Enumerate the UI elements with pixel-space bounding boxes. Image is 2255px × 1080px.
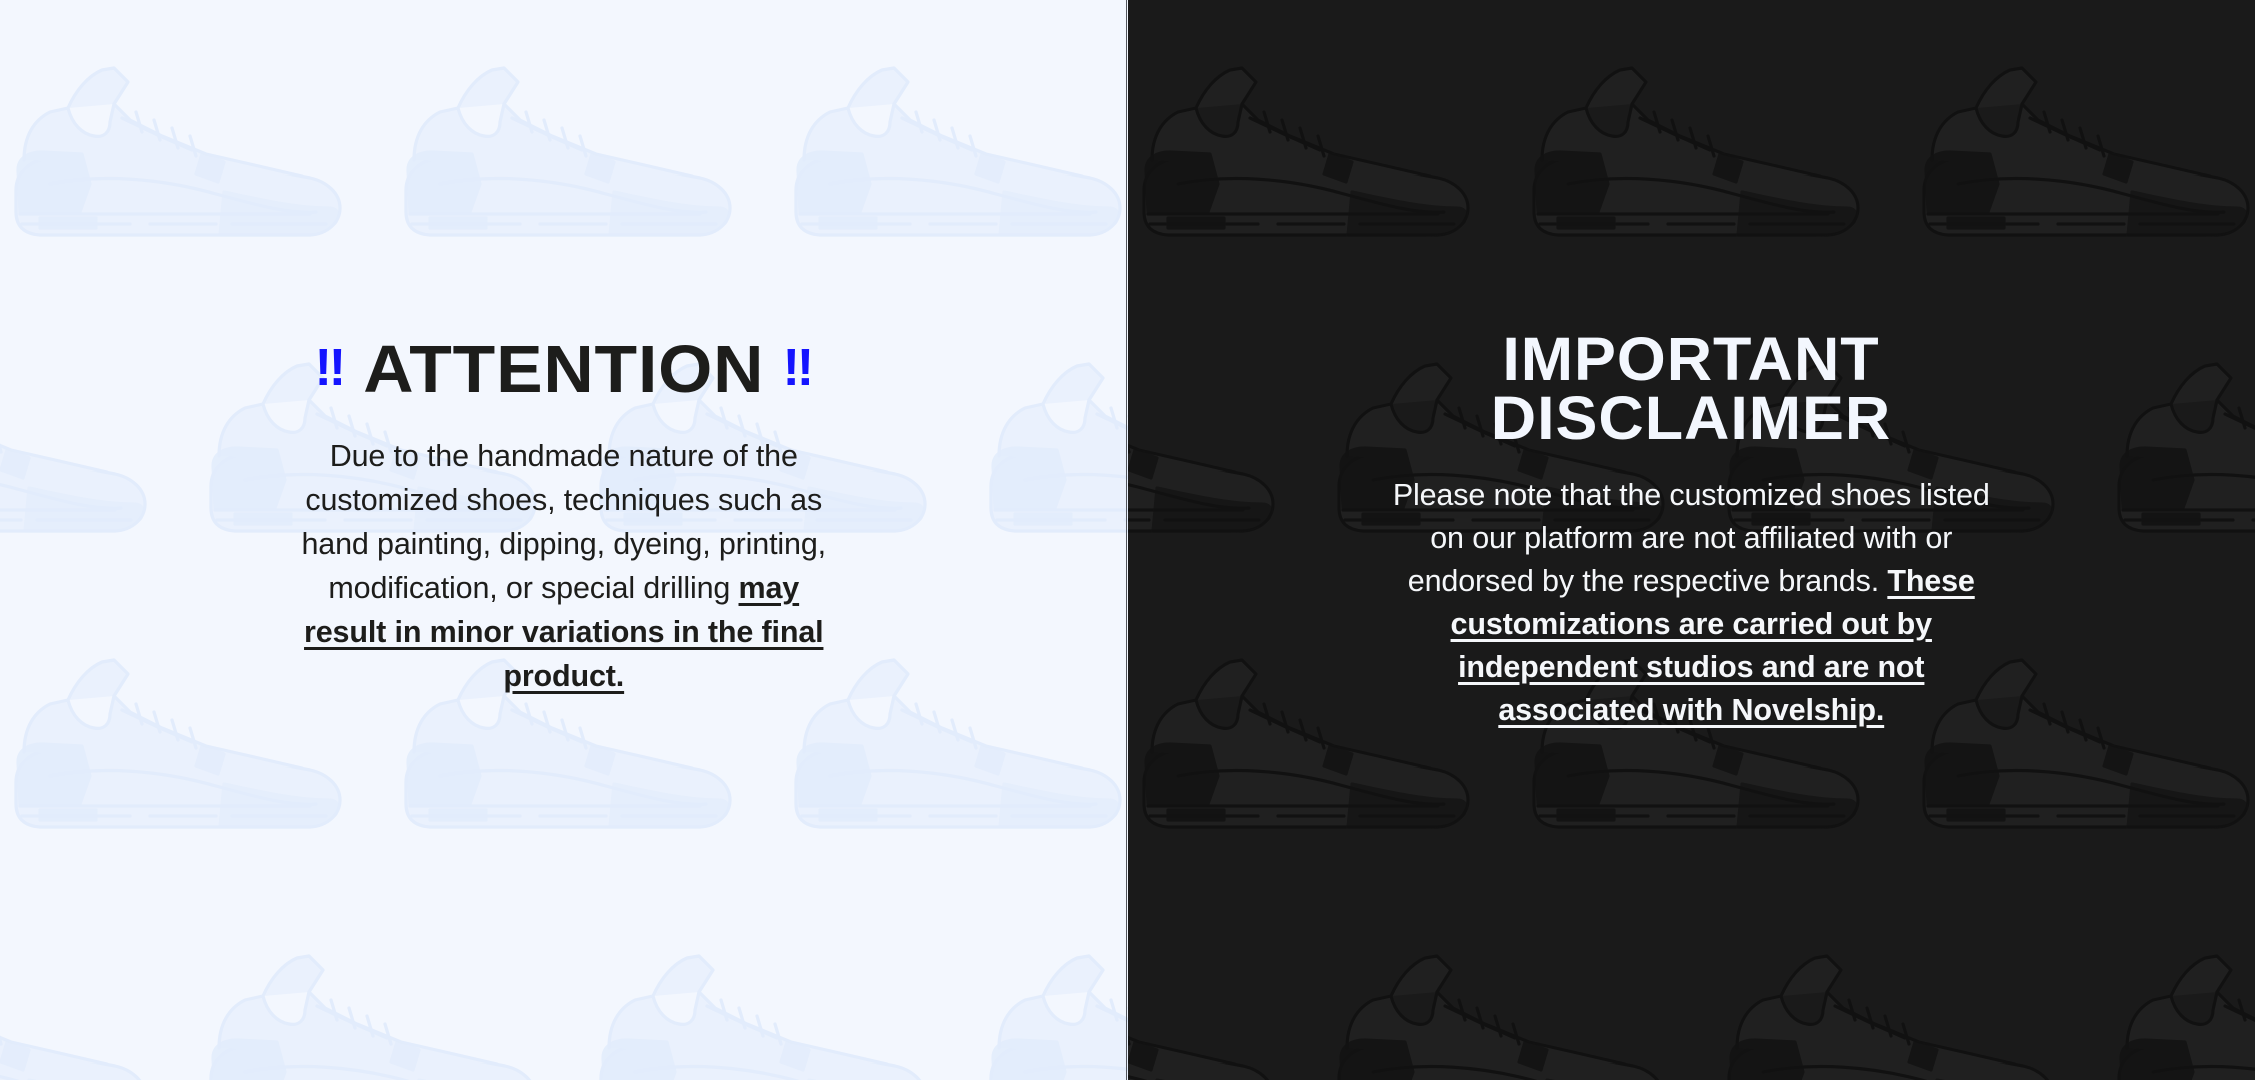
double-exclamation-icon-right: ‼	[783, 342, 813, 394]
panel-divider	[1126, 0, 1127, 1080]
double-exclamation-icon-left: ‼	[315, 342, 345, 394]
disclaimer-body-text: Please note that the customized shoes li…	[1391, 474, 1991, 732]
disclaimer-banner: ‼ ATTENTION ‼ Due to the handmade nature…	[0, 0, 2255, 1080]
attention-body-text: Due to the handmade nature of the custom…	[284, 434, 844, 698]
disclaimer-heading-line-1: IMPORTANT	[1503, 325, 1880, 393]
disclaimer-heading: IMPORTANT DISCLAIMER	[1372, 330, 2011, 448]
attention-panel: ‼ ATTENTION ‼ Due to the handmade nature…	[0, 0, 1128, 1080]
disclaimer-heading-line-2: DISCLAIMER	[1491, 384, 1891, 452]
page-title: ATTENTION	[363, 336, 764, 403]
attention-heading: ‼ ATTENTION ‼	[315, 336, 813, 403]
disclaimer-panel: IMPORTANT DISCLAIMER Please note that th…	[1128, 0, 2255, 1080]
